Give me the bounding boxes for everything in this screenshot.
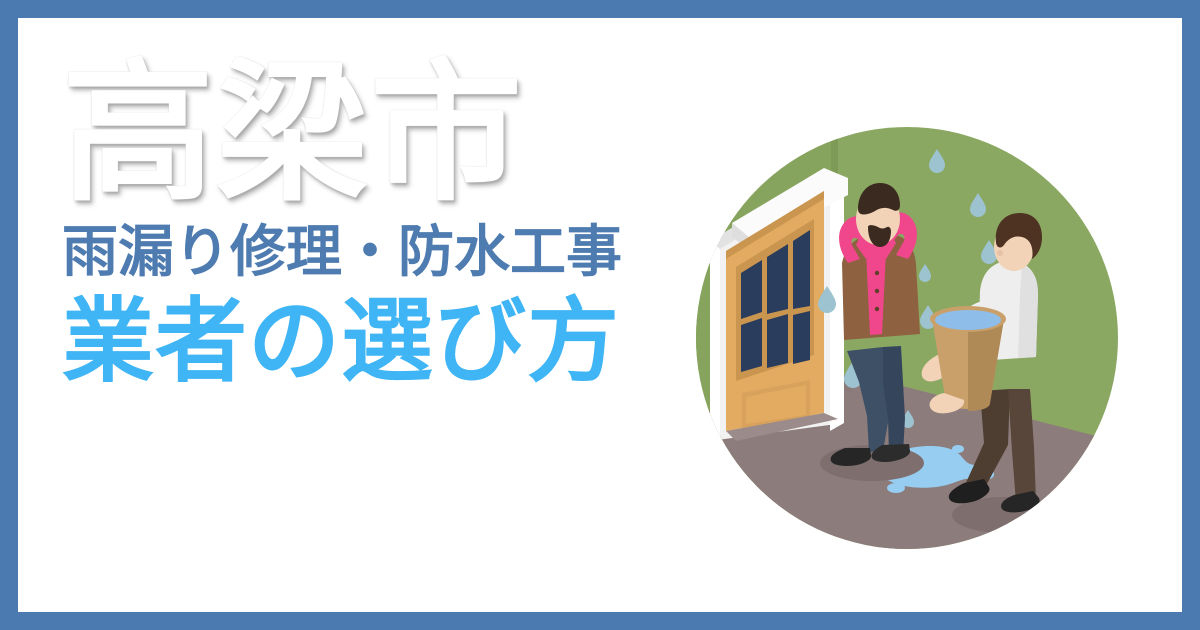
water-leak-illustration [692,123,1122,553]
topic-label: 業者の選び方 [62,296,712,388]
banner-frame: 高梁市 雨漏り修理・防水工事 業者の選び方 [0,0,1200,630]
service-label: 雨漏り修理・防水工事 [62,224,712,280]
illustration-canvas [692,123,1122,553]
banner-inner: 高梁市 雨漏り修理・防水工事 業者の選び方 [18,18,1182,612]
door-frame-left-post [710,241,720,441]
headline-block: 高梁市 雨漏り修理・防水工事 業者の選び方 [62,58,712,388]
city-title: 高梁市 [62,58,712,210]
